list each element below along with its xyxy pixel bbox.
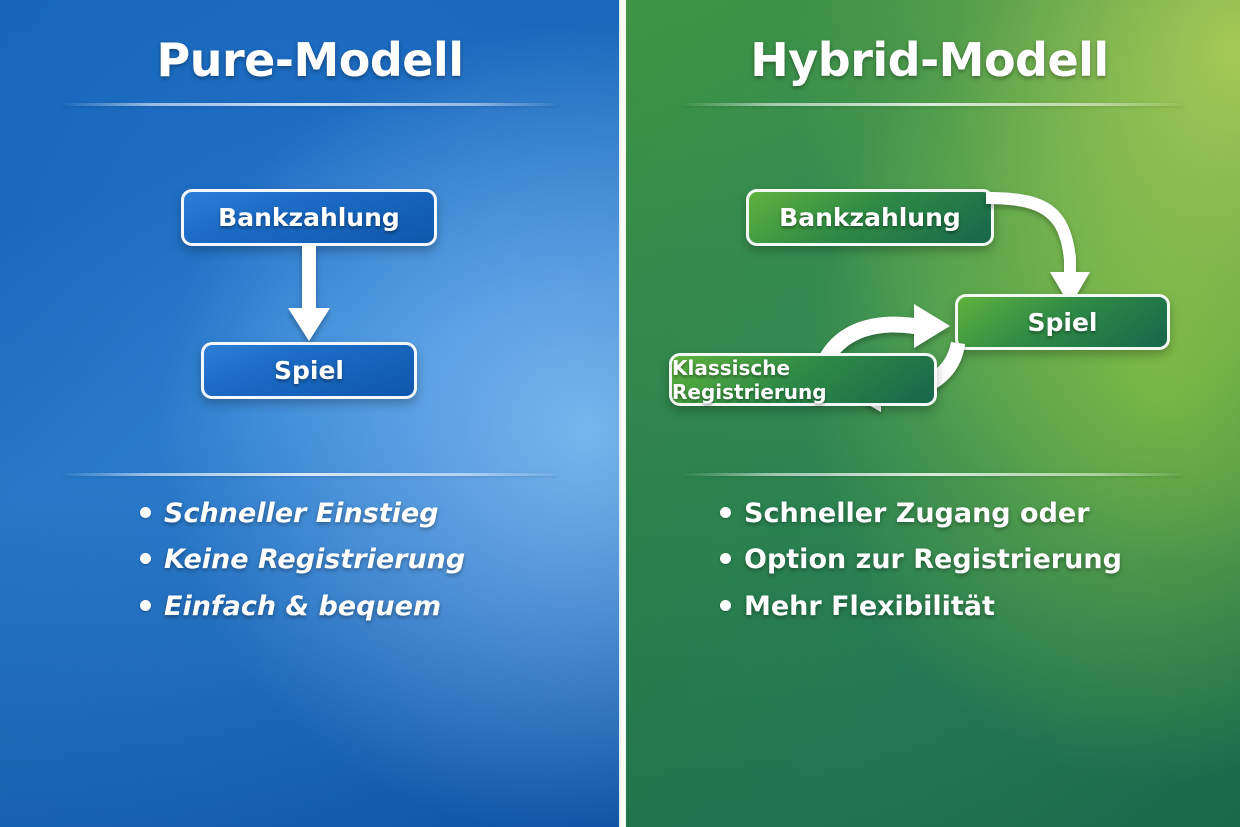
list-item: Schneller Einstieg [140,500,620,528]
benefits-list-left: Schneller Einstieg Keine Registrierung E… [0,500,620,639]
flow-node-label: Spiel [274,356,344,385]
bullet-dot-icon [720,600,731,611]
bullet-dot-icon [140,507,151,518]
flow-node-label: Klassische Registrierung [672,356,934,404]
bullet-dot-icon [140,553,151,564]
panel-hybrid-modell: Hybrid-Modell Bankzahlung Spiel [625,0,1240,827]
comparison-infographic: Pure-Modell Bankzahlung Spiel [0,0,1240,827]
list-item: Einfach & bequem [140,593,620,621]
list-item: Keine Registrierung [140,546,620,574]
panel-divider-seam [619,0,626,827]
list-item-label: Mehr Flexibilität [744,593,995,621]
list-item-label: Schneller Einstieg [164,500,439,528]
flow-node-bankzahlung-left: Bankzahlung [181,189,437,246]
bullet-dot-icon [140,600,151,611]
divider-top-left [62,103,558,106]
divider-top-right [683,103,1183,106]
flow-node-klassische-registrierung: Klassische Registrierung [669,353,937,406]
list-item: Mehr Flexibilität [720,593,1240,621]
list-item: Option zur Registrierung [720,546,1240,574]
list-item-label: Einfach & bequem [164,593,441,621]
bullet-dot-icon [720,507,731,518]
bullet-dot-icon [720,553,731,564]
flow-node-label: Bankzahlung [218,203,400,232]
panel-pure-modell: Pure-Modell Bankzahlung Spiel [0,0,620,827]
page-title-left: Pure-Modell [0,33,620,87]
benefits-list-right: Schneller Zugang oder Option zur Registr… [625,500,1240,639]
divider-mid-left [62,473,558,476]
flow-node-label: Spiel [1028,308,1098,337]
arrow-bankzahlung-to-spiel-icon [287,246,331,343]
flow-node-label: Bankzahlung [779,203,961,232]
list-item-label: Option zur Registrierung [744,546,1122,574]
page-title-right: Hybrid-Modell [625,33,1237,87]
divider-mid-right [683,473,1183,476]
flow-node-spiel-right: Spiel [955,294,1170,350]
list-item-label: Schneller Zugang oder [744,500,1090,528]
flow-node-bankzahlung-right: Bankzahlung [746,189,994,246]
arrow-bankzahlung-to-spiel-icon [980,190,1110,308]
flow-node-spiel-left: Spiel [201,342,417,399]
list-item-label: Keine Registrierung [164,546,465,574]
list-item: Schneller Zugang oder [720,500,1240,528]
